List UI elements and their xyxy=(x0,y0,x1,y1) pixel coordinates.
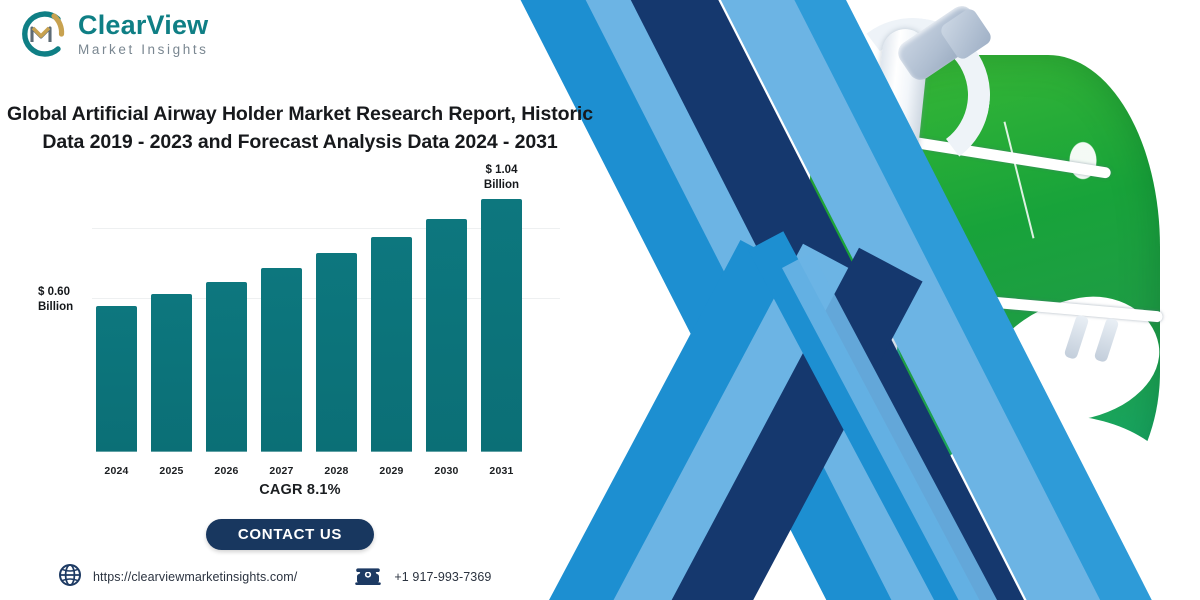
clearview-c-m-monogram-icon xyxy=(14,6,70,62)
bar-2028 xyxy=(316,253,357,452)
website-link[interactable]: https://clearviewmarketinsights.com/ xyxy=(58,563,297,592)
x-axis-label-2030: 2030 xyxy=(426,465,467,477)
bar-2031 xyxy=(481,199,522,452)
cagr-label: CAGR 8.1% xyxy=(0,482,600,498)
content-panel: ClearView Market Insights Global Artific… xyxy=(0,0,600,600)
bar-2024 xyxy=(96,306,137,452)
contact-bar: https://clearviewmarketinsights.com/ +1 … xyxy=(58,560,578,594)
x-axis-label-2028: 2028 xyxy=(316,465,357,477)
artwork-panel xyxy=(520,0,1200,600)
brand-logo[interactable]: ClearView Market Insights xyxy=(14,6,209,62)
telephone-icon xyxy=(353,563,383,592)
report-title-line2: Data 2019 - 2023 and Forecast Analysis D… xyxy=(0,128,600,156)
bar-2025 xyxy=(151,294,192,452)
report-banner: ClearView Market Insights Global Artific… xyxy=(0,0,1200,600)
bar-2027 xyxy=(261,268,302,452)
x-axis-label-2031: 2031 xyxy=(481,465,522,477)
x-axis-label-2029: 2029 xyxy=(371,465,412,477)
phone-link[interactable]: +1 917-993-7369 xyxy=(353,563,491,592)
website-url: https://clearviewmarketinsights.com/ xyxy=(93,570,297,584)
x-axis-label-2026: 2026 xyxy=(206,465,247,477)
x-axis-label-2027: 2027 xyxy=(261,465,302,477)
report-title: Global Artificial Airway Holder Market R… xyxy=(0,100,600,157)
bar-2029 xyxy=(371,237,412,452)
market-bar-chart: 20242025202620272028202920302031$ 0.60Bi… xyxy=(0,165,600,485)
value-label-2031: $ 1.04Billion xyxy=(469,163,535,192)
x-axis-label-2024: 2024 xyxy=(96,465,137,477)
bar-series: 20242025202620272028202920302031$ 0.60Bi… xyxy=(0,165,600,485)
bar-2026 xyxy=(206,282,247,452)
report-title-line1: Global Artificial Airway Holder Market R… xyxy=(7,103,593,125)
value-label-2024: $ 0.60Billion xyxy=(38,285,104,314)
brand-name-secondary: Market Insights xyxy=(78,43,209,57)
brand-name-primary: ClearView xyxy=(78,12,209,39)
x-axis-label-2025: 2025 xyxy=(151,465,192,477)
bar-2030 xyxy=(426,219,467,452)
contact-us-button[interactable]: CONTACT US xyxy=(206,519,374,550)
phone-number: +1 917-993-7369 xyxy=(394,570,491,584)
globe-icon xyxy=(58,563,82,592)
